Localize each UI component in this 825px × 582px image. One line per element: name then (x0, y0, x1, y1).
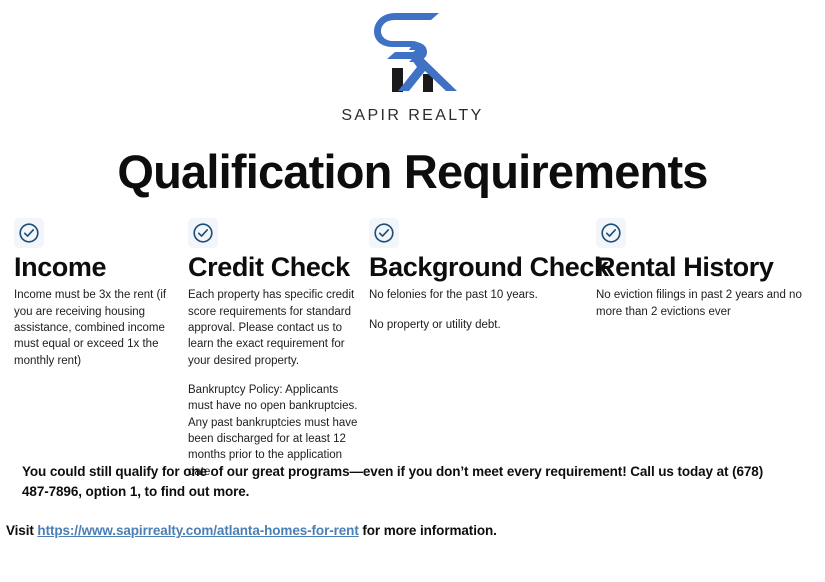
brand-wordmark: SAPIR REALTY (341, 107, 483, 125)
check-circle-icon (369, 218, 399, 248)
requirement-column-income: Income Income must be 3x the rent (if yo… (14, 218, 186, 369)
column-paragraph: Each property has specific credit score … (188, 287, 358, 369)
requirement-column-rental-history: Rental History No eviction filings in pa… (596, 218, 818, 320)
check-circle-icon (188, 218, 218, 248)
column-title: Income (14, 252, 186, 282)
column-title: Background Check (369, 252, 587, 282)
column-paragraph: No felonies for the past 10 years. (369, 287, 587, 303)
column-paragraph: Income must be 3x the rent (if you are r… (14, 287, 186, 369)
column-paragraph: No eviction filings in past 2 years and … (596, 287, 818, 320)
footer-suffix: for more information. (359, 523, 497, 538)
column-title: Credit Check (188, 252, 358, 282)
column-title: Rental History (596, 252, 818, 282)
page-title: Qualification Requirements (0, 147, 825, 196)
check-circle-icon (596, 218, 626, 248)
footer-prefix: Visit (6, 523, 37, 538)
footer-visit-line: Visit https://www.sapirrealty.com/atlant… (6, 523, 806, 538)
requirement-column-background-check: Background Check No felonies for the pas… (369, 218, 587, 333)
website-link[interactable]: https://www.sapirrealty.com/atlanta-home… (37, 523, 358, 538)
requirement-column-credit-check: Credit Check Each property has specific … (188, 218, 358, 480)
check-circle-icon (14, 218, 44, 248)
column-paragraph: No property or utility debt. (369, 317, 587, 333)
qualify-callout: You could still qualify for one of our g… (22, 462, 792, 501)
brand-logo-block: SAPIR REALTY (0, 0, 825, 125)
sapir-sr-monogram-icon (365, 12, 461, 104)
